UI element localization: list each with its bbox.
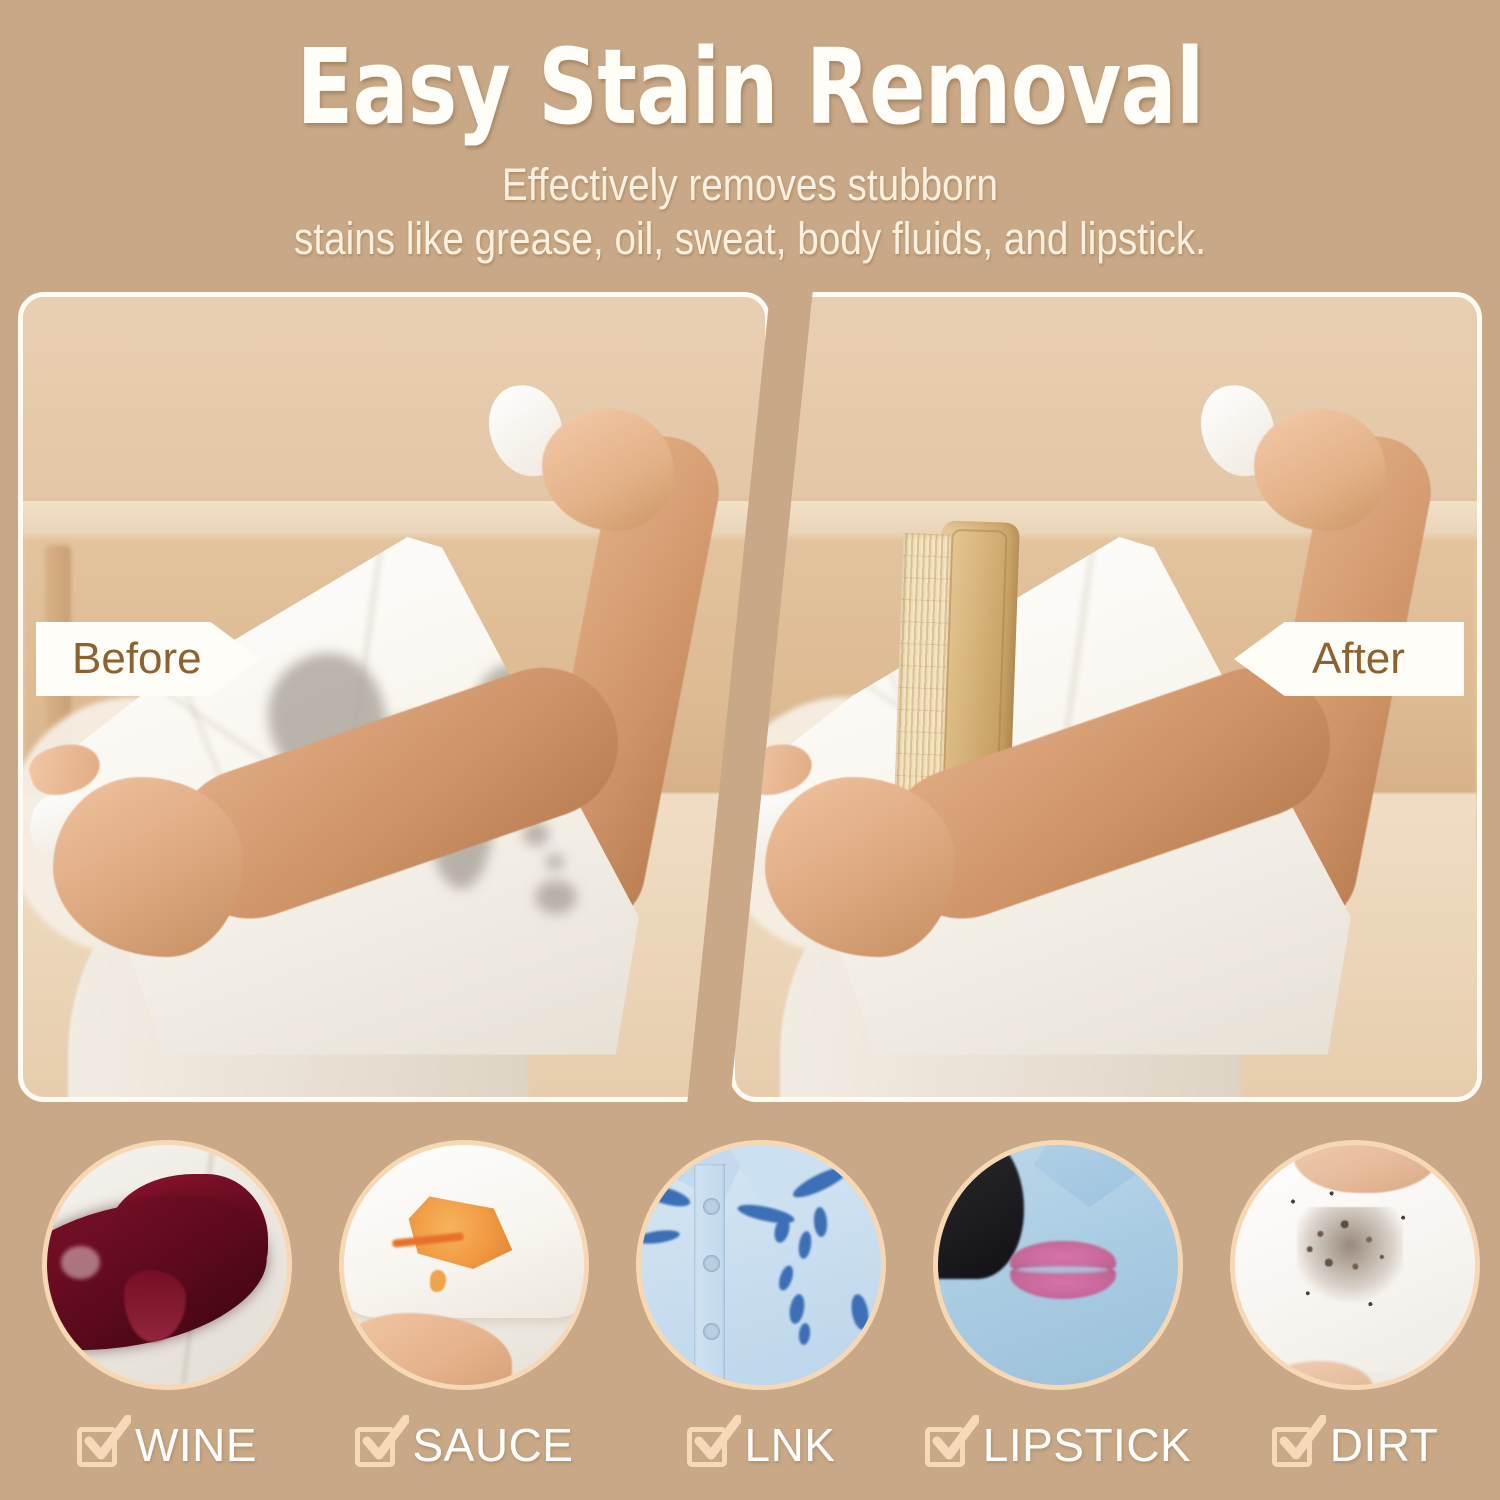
before-after-comparison: Before After	[18, 292, 1482, 1102]
subtitle-line-1: Effectively removes stubborn	[502, 159, 998, 210]
stain-type-label-row: DIRT	[1272, 1418, 1439, 1472]
bedroom-scene-before	[23, 297, 765, 1097]
subtitle-line-2: stains like grease, oil, sweat, body flu…	[294, 213, 1206, 264]
stain-type-label: WINE	[135, 1418, 257, 1472]
before-photo-panel	[18, 292, 770, 1102]
shirt-button	[703, 1323, 720, 1340]
header: Easy Stain Removal Effectively removes s…	[0, 0, 1500, 290]
lipstick-stain-photo	[933, 1140, 1183, 1390]
stain-type-dirt: DIRT	[1220, 1140, 1490, 1472]
page-title: Easy Stain Removal	[150, 26, 1350, 148]
stain-spot	[546, 854, 564, 870]
lipstick-kiss-mark	[1010, 1241, 1116, 1299]
stain-type-label-row: LNK	[687, 1418, 836, 1472]
checkbox-checked-icon	[355, 1423, 399, 1467]
checkmark-glyph	[357, 1415, 409, 1467]
checkmark-glyph	[1274, 1415, 1326, 1467]
glass-highlight	[61, 1246, 99, 1280]
holding-hand	[339, 1313, 512, 1390]
ink-splatter	[776, 1264, 795, 1292]
ink-splatter	[798, 1322, 811, 1345]
checkbox-checked-icon	[1272, 1423, 1316, 1467]
wine-stain-photo	[42, 1140, 292, 1390]
bedroom-scene-after	[735, 297, 1477, 1097]
ink-splatter	[798, 1231, 814, 1260]
brush-bristle-rows	[895, 533, 952, 795]
checkmark-glyph	[927, 1415, 979, 1467]
stain-type-sauce: SAUCE	[329, 1140, 599, 1472]
checkmark-glyph	[689, 1415, 741, 1467]
ink-splatter	[849, 1293, 871, 1331]
stain-type-label-row: WINE	[77, 1418, 257, 1472]
dirt-patch	[1297, 1207, 1403, 1303]
checkbox-checked-icon	[77, 1423, 121, 1467]
stain-type-label: LIPSTICK	[983, 1418, 1192, 1472]
page-subtitle: Effectively removes stubborn stains like…	[105, 158, 1395, 266]
ink-splatter	[787, 1293, 806, 1325]
ink-splatter	[813, 1207, 828, 1238]
stain-spot	[535, 880, 577, 914]
stain-type-label: DIRT	[1330, 1418, 1439, 1472]
checkmark-glyph	[79, 1415, 131, 1467]
checkbox-checked-icon	[925, 1423, 969, 1467]
stain-type-label-row: SAUCE	[355, 1418, 574, 1472]
stain-type-label: SAUCE	[413, 1418, 574, 1472]
stain-type-label-row: LIPSTICK	[925, 1418, 1192, 1472]
sauce-stain-photo	[339, 1140, 589, 1390]
ink-splatter	[640, 1182, 692, 1211]
stain-type-label: LNK	[745, 1418, 836, 1472]
shirt-collar	[1020, 1140, 1159, 1207]
after-photo-panel	[730, 292, 1482, 1102]
stain-type-wine: WINE	[32, 1140, 302, 1472]
stain-type-ink: LNK	[626, 1140, 896, 1472]
ink-splatter	[636, 1228, 681, 1246]
ink-stain-photo	[636, 1140, 886, 1390]
dirt-stain-photo	[1230, 1140, 1480, 1390]
checkbox-checked-icon	[687, 1423, 731, 1467]
stain-type-lipstick: LIPSTICK	[923, 1140, 1193, 1472]
stain-types-row: WINE SAUCE	[0, 1140, 1500, 1500]
